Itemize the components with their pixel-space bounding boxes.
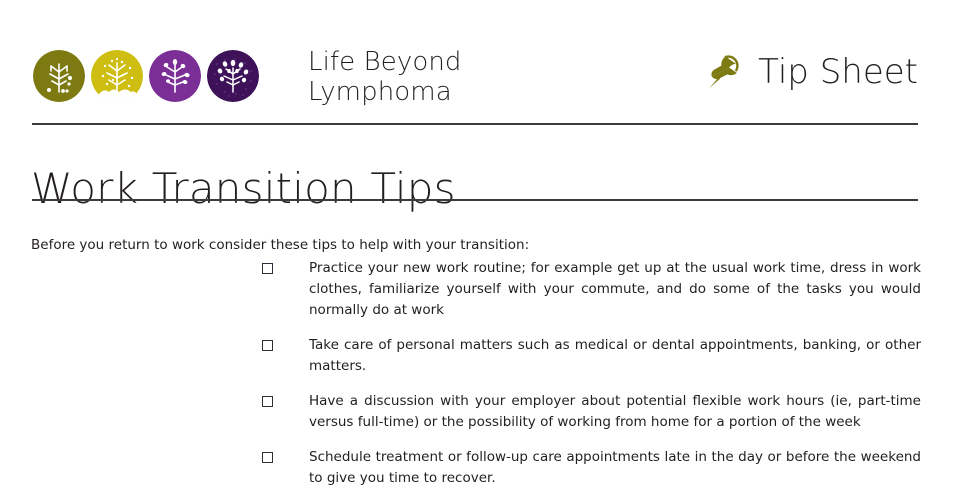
tip-sheet-label: Tip Sheet: [758, 52, 918, 92]
masthead: Life Beyond Lymphoma Tip Sheet: [0, 0, 956, 124]
tree-spring-icon: [149, 50, 201, 102]
pushpin-icon: [700, 50, 744, 94]
checkbox-icon[interactable]: [262, 263, 273, 274]
list-item-label: Take care of personal matters such as me…: [309, 335, 921, 377]
tree-summer-icon: [33, 50, 85, 102]
checklist: Practice your new work routine; for exam…: [262, 258, 922, 489]
tree-autumn-icon: [207, 50, 259, 102]
header-divider-bottom: [32, 199, 918, 201]
list-item-label: Have a discussion with your employer abo…: [309, 391, 921, 433]
intro-text: Before you return to work consider these…: [31, 235, 529, 255]
checkbox-icon[interactable]: [262, 452, 273, 463]
list-item-label: Practice your new work routine; for exam…: [309, 258, 921, 321]
checkbox-icon[interactable]: [262, 396, 273, 407]
list-item[interactable]: Have a discussion with your employer abo…: [262, 391, 922, 433]
list-item[interactable]: Take care of personal matters such as me…: [262, 335, 922, 377]
list-item[interactable]: Schedule treatment or follow-up care app…: [262, 447, 922, 489]
logo: [33, 50, 259, 102]
checkbox-icon[interactable]: [262, 340, 273, 351]
tip-sheet-page: Life Beyond Lymphoma Tip Sheet Work Tran…: [0, 0, 956, 494]
brand-name: Life Beyond Lymphoma: [308, 47, 462, 107]
list-item-label: Schedule treatment or follow-up care app…: [309, 447, 921, 489]
tip-sheet-badge: Tip Sheet: [700, 50, 918, 94]
list-item[interactable]: Practice your new work routine; for exam…: [262, 258, 922, 321]
page-title: Work Transition Tips: [31, 162, 456, 216]
tree-winter-icon: [91, 50, 143, 102]
header-divider-top: [32, 123, 918, 125]
